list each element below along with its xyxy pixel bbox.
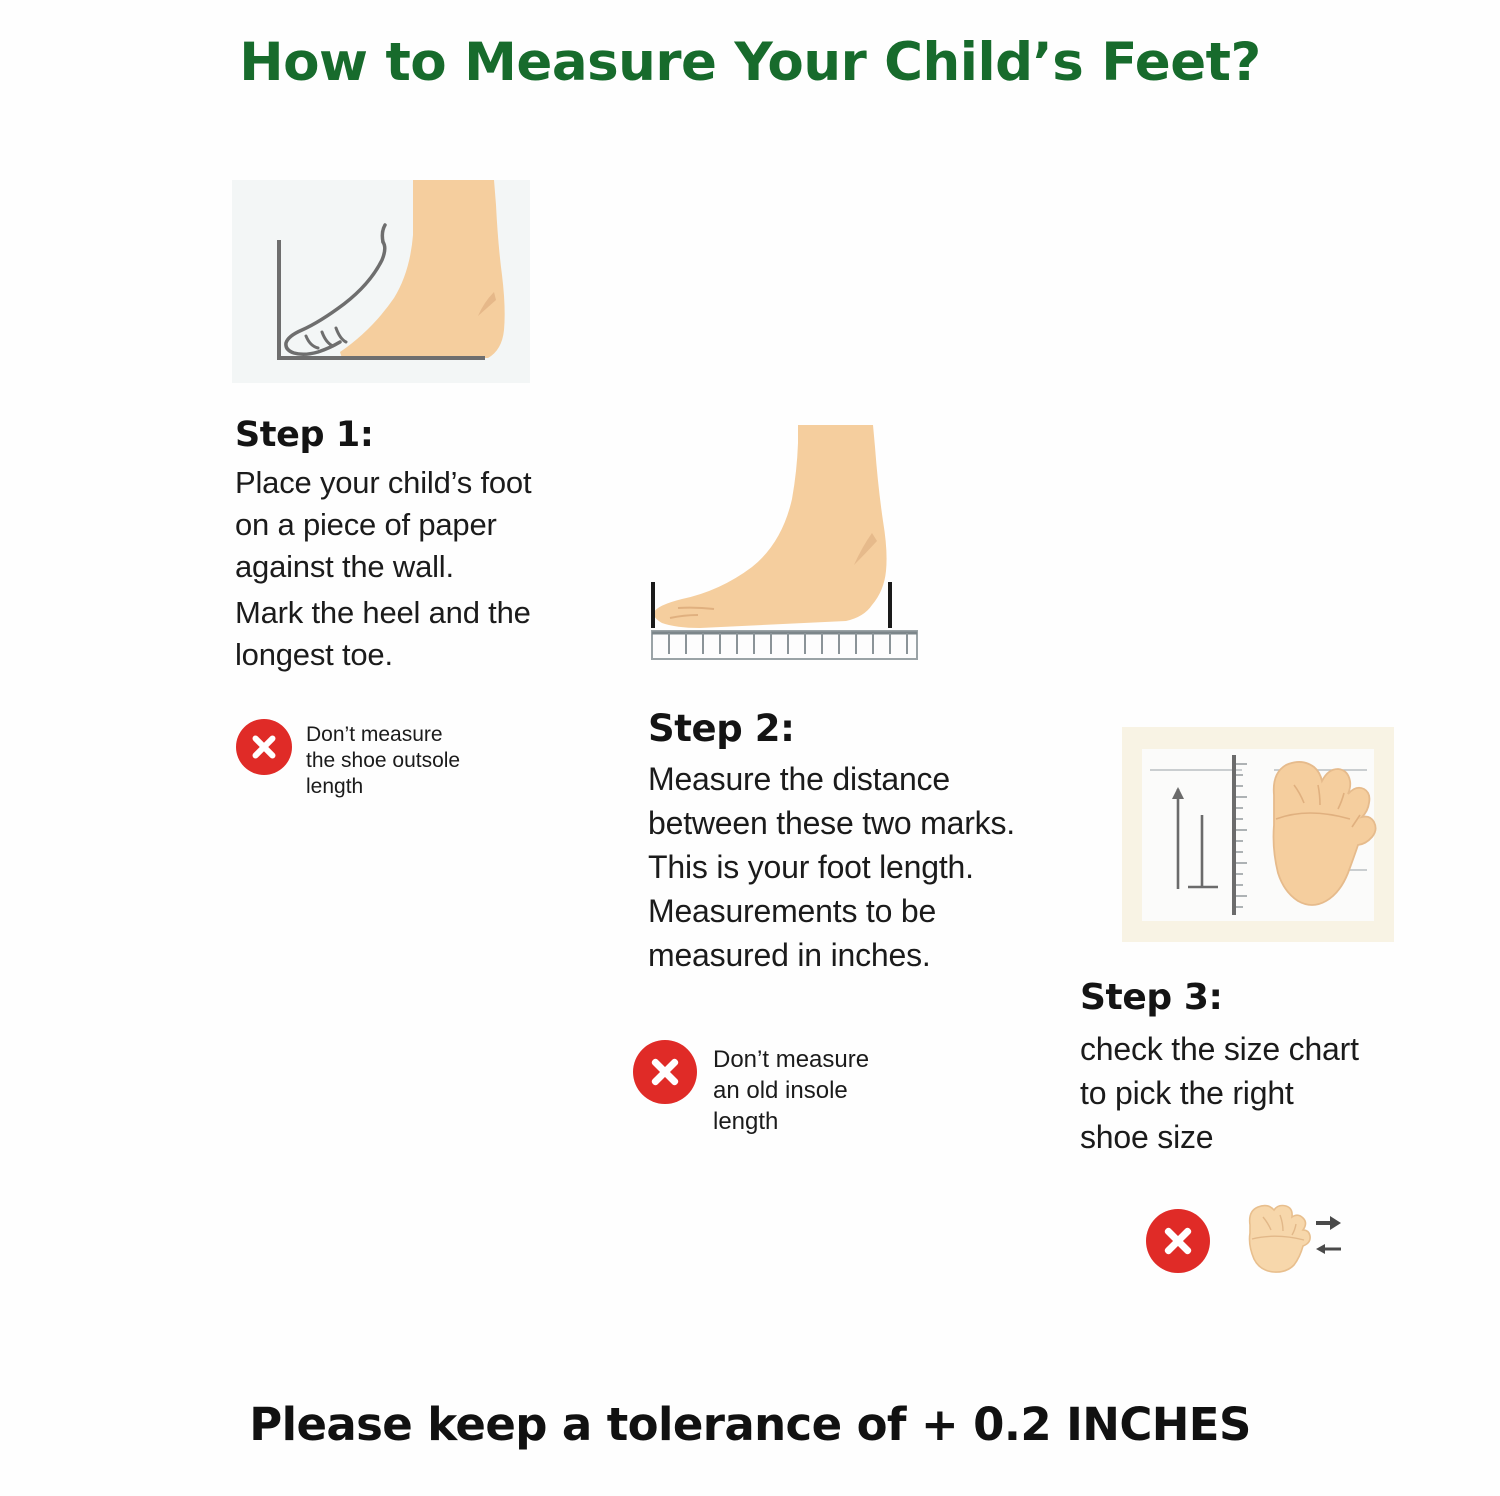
step3-warning-badge [1146,1199,1342,1282]
step1-line-1: Place your child’s foot [235,462,565,504]
step3-illustration-foot-sole-view-with-vertical-ruler [1122,727,1394,942]
step1-warning-text: Don’t measure the shoe outsole length [306,719,460,800]
step2-line-5: measured in inches. [648,933,1088,977]
step3-body: check the size chart to pick the right s… [1080,1027,1430,1159]
step2-line-3: This is your foot length. [648,845,1088,889]
step3-line-1: check the size chart [1080,1027,1430,1071]
step2-line-1: Measure the distance [648,757,1088,801]
tolerance-note: Please keep a tolerance of + 0.2 INCHES [0,1398,1500,1451]
step3-heading: Step 3: [1080,977,1223,1018]
step1-body: Place your child’s foot on a piece of pa… [235,462,565,676]
step2-warning-line-1: Don’t measure [713,1044,869,1075]
red-circle-x-icon [633,1040,697,1104]
red-circle-x-icon [1146,1209,1210,1273]
step1-warning-line-2: the shoe outsole [306,748,460,774]
step2-line-4: Measurements to be [648,889,1088,933]
foot-width-arrows-icon [1232,1199,1342,1282]
step1-line-3: against the wall. [235,546,565,588]
step1-line-4: Mark the heel and the [235,592,565,634]
page-title: How to Measure Your Child’s Feet? [0,32,1500,93]
step2-warning-badge: Don’t measure an old insole length [633,1040,869,1137]
step1-warning-badge: Don’t measure the shoe outsole length [236,719,460,800]
step2-warning-text: Don’t measure an old insole length [713,1040,869,1137]
step3-line-3: shoe size [1080,1115,1430,1159]
step1-illustration-foot-side-view-against-wall [232,180,530,383]
step2-line-2: between these two marks. [648,801,1088,845]
step1-warning-line-1: Don’t measure [306,722,460,748]
step3-line-2: to pick the right [1080,1071,1430,1115]
step2-body: Measure the distance between these two m… [648,757,1088,977]
step1-line-5: longest toe. [235,634,565,676]
step1-heading: Step 1: [235,415,373,455]
step2-warning-line-3: length [713,1106,869,1137]
step2-heading: Step 2: [648,707,795,750]
red-circle-x-icon [236,719,292,775]
step1-line-2: on a piece of paper [235,504,565,546]
step1-warning-line-3: length [306,774,460,800]
size-guide-page: How to Measure Your Child’s Feet? Step 1… [0,0,1500,1496]
step2-illustration-foot-side-view-on-ruler [640,425,930,665]
step2-warning-line-2: an old insole [713,1075,869,1106]
